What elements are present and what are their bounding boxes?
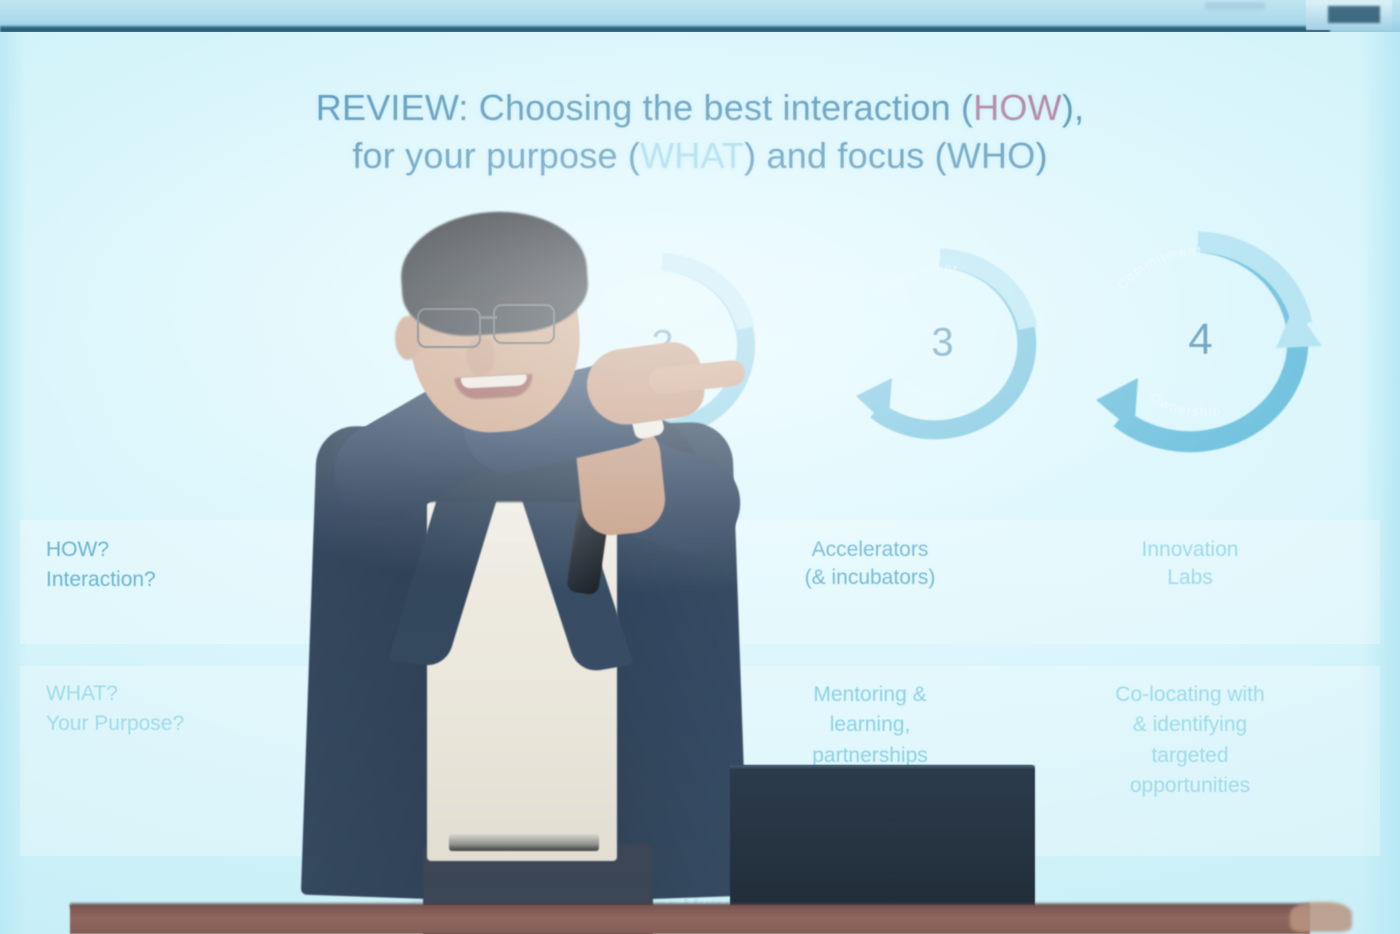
- svg-text:Commitment: Commitment: [1114, 243, 1202, 293]
- title-line2-prefix: for your purpose (: [352, 135, 640, 176]
- cycle-3-number: 3: [840, 320, 1045, 365]
- eyeglasses-lens-right: [493, 304, 555, 344]
- desk-surface: [70, 905, 1310, 934]
- laptop-lid-highlight: [730, 765, 1035, 768]
- title-token-how: HOW: [973, 87, 1062, 128]
- title-token-who: WHO: [947, 135, 1036, 176]
- belt: [449, 834, 599, 851]
- laptop-lid: [730, 765, 1035, 915]
- ceiling-fixture-dark: [1328, 6, 1380, 23]
- presentation-photo: REVIEW: Choosing the best interaction (H…: [0, 0, 1400, 934]
- title-line2-suffix: ): [1035, 135, 1047, 176]
- eyeglasses-lens-left: [417, 308, 481, 348]
- svg-text:Ownership: Ownership: [1147, 389, 1222, 419]
- cycle-4-bottom-label: Ownership: [1147, 389, 1222, 419]
- title-line1-suffix: ),: [1062, 87, 1084, 128]
- cycle-3-bottom-label: Resources: [901, 378, 971, 403]
- title-token-what: WHAT: [640, 135, 744, 176]
- ceiling-vent: [1205, 2, 1265, 10]
- svg-text:Resources: Resources: [901, 378, 971, 403]
- svg-text:Engagement: Engagement: [875, 261, 959, 300]
- slide-title: REVIEW: Choosing the best interaction (H…: [0, 84, 1400, 180]
- row-what-cell-3: Co-locating with & identifying targeted …: [1040, 680, 1340, 802]
- cycle-3-top-label: Engagement: [875, 261, 959, 300]
- title-line1-prefix: REVIEW: Choosing the best interaction (: [316, 87, 973, 128]
- cycle-4-top-label: Commitment: [1114, 243, 1202, 293]
- cycle-diagram-3: Engagement Resources 3: [840, 246, 1045, 441]
- cycle-4-number: 4: [1078, 315, 1323, 365]
- eyebrow-left: [423, 300, 475, 306]
- audience-hand: [1290, 902, 1352, 932]
- cycle-diagram-4: Commitment Ownership 4: [1078, 228, 1323, 453]
- eyeglasses-bridge: [479, 316, 497, 319]
- title-line2-middle: ) and focus (: [744, 135, 947, 176]
- eyebrow-right: [497, 296, 547, 302]
- row-how-cell-3: Innovation Labs: [1040, 536, 1340, 593]
